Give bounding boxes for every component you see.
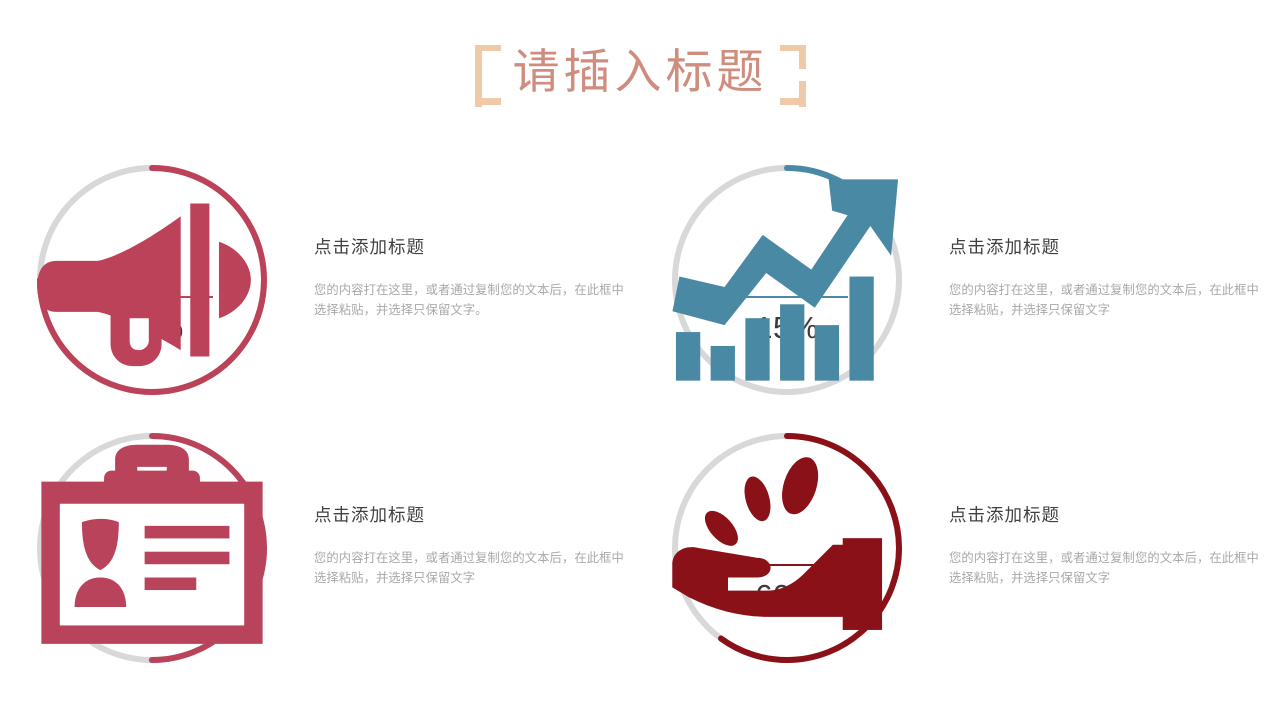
stat-text-column: 点击添加标题 您的内容打在这里，或者通过复制您的文本后，在此框中选择粘贴，并选择… bbox=[314, 234, 634, 327]
stat-text-column: 点击添加标题 您的内容打在这里，或者通过复制您的文本后，在此框中选择粘贴，并选择… bbox=[314, 502, 634, 595]
progress-ring: 60% bbox=[669, 430, 905, 666]
ring-content: 50% bbox=[34, 430, 270, 666]
stat-item[interactable]: 50% 点击添加标题 您的内容打在这里，或者通过复制您的文本后，在此框中选择粘贴… bbox=[34, 430, 634, 666]
stat-item[interactable]: 75% 点击添加标题 您的内容打在这里，或者通过复制您的文本后，在此框中选择粘贴… bbox=[34, 162, 634, 398]
stat-title[interactable]: 点击添加标题 bbox=[949, 502, 1269, 527]
megaphone-icon bbox=[106, 218, 198, 288]
ring-content: 60% bbox=[669, 430, 905, 666]
progress-ring: 50% bbox=[34, 430, 270, 666]
bracket-left-top bbox=[475, 45, 501, 51]
bracket-right-bottom bbox=[780, 98, 806, 105]
bracket-left-bottom bbox=[475, 98, 501, 105]
stat-body[interactable]: 您的内容打在这里，或者通过复制您的文本后，在此框中选择粘贴，并选择只保留文字 bbox=[314, 549, 634, 589]
stat-body[interactable]: 您的内容打在这里，或者通过复制您的文本后，在此框中选择粘贴，并选择只保留文字 bbox=[949, 281, 1269, 321]
stat-text-column: 点击添加标题 您的内容打在这里，或者通过复制您的文本后，在此框中选择粘贴，并选择… bbox=[949, 502, 1269, 595]
slide-canvas: 请插入标题 bbox=[0, 0, 1280, 720]
stat-title[interactable]: 点击添加标题 bbox=[314, 234, 634, 259]
bracket-right-top bbox=[780, 45, 806, 51]
stat-title[interactable]: 点击添加标题 bbox=[314, 502, 634, 527]
hand-coins-icon bbox=[741, 486, 833, 556]
progress-ring: 75% bbox=[34, 162, 270, 398]
ring-content: 75% bbox=[34, 162, 270, 398]
title-block: 请插入标题 bbox=[0, 28, 1280, 118]
ring-content: 15% bbox=[669, 162, 905, 398]
stat-item[interactable]: 15% 点击添加标题 您的内容打在这里，或者通过复制您的文本后，在此框中选择粘贴… bbox=[669, 162, 1269, 398]
stat-text-column: 点击添加标题 您的内容打在这里，或者通过复制您的文本后，在此框中选择粘贴，并选择… bbox=[949, 234, 1269, 327]
page-title: 请插入标题 bbox=[513, 45, 768, 99]
stat-item[interactable]: 60% 点击添加标题 您的内容打在这里，或者通过复制您的文本后，在此框中选择粘贴… bbox=[669, 430, 1269, 666]
id-badge-icon bbox=[106, 486, 198, 556]
stat-title[interactable]: 点击添加标题 bbox=[949, 234, 1269, 259]
growth-chart-arrow-icon bbox=[741, 218, 833, 288]
progress-ring: 15% bbox=[669, 162, 905, 398]
stat-body[interactable]: 您的内容打在这里，或者通过复制您的文本后，在此框中选择粘贴，并选择只保留文字 bbox=[949, 549, 1269, 589]
stat-body[interactable]: 您的内容打在这里，或者通过复制您的文本后，在此框中选择粘贴，并选择只保留文字。 bbox=[314, 281, 634, 321]
title-frame: 请插入标题 bbox=[475, 39, 806, 107]
